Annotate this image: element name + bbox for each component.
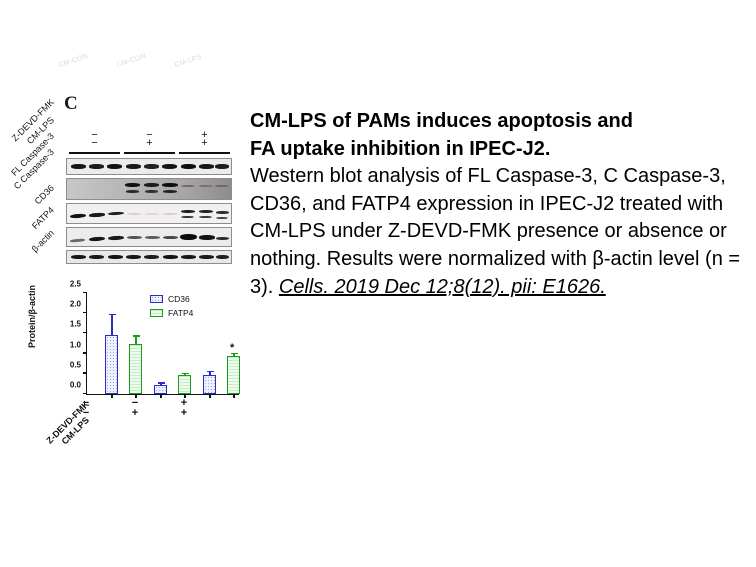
bar-cd36-group-1 [154, 385, 167, 394]
caption-title-line-2: FA uptake inhibition in IPEC-J2. [250, 138, 550, 160]
legend-swatch-fatp4-icon [150, 309, 163, 317]
errorbar-cd36-group-1 [160, 384, 161, 386]
errorbar-fatp4-group-1 [184, 374, 185, 375]
caption-citation-link[interactable]: Cells. 2019 Dec 12;8(12). pii: E1626. [279, 276, 606, 298]
legend-item-cd36: CD36 [150, 293, 230, 305]
errorcap-fatp4-group-1 [182, 373, 189, 374]
group-2-cm-lps-sign: + [177, 139, 232, 147]
y-tick-label-0: 0.0 [70, 381, 81, 390]
figure-panel: CM-CON CM-CON CM-LPS C Z-DEVD-FMK CM-LPS… [0, 0, 246, 567]
western-blot-stack [66, 158, 232, 267]
blot-panel-c-caspase-3 [66, 178, 232, 200]
treatment-sign-header: − − − + + + [67, 131, 232, 157]
caption-title-line-1: CM-LPS of PAMs induces apoptosis and [250, 110, 633, 132]
errorbar-fatp4-group-2 [233, 354, 234, 356]
y-tick-5 [83, 292, 87, 294]
bar-fatp4-group-0 [129, 344, 142, 395]
errorbar-fatp4-group-0 [135, 337, 136, 344]
x-axis-label-group: Z-DEVD-FMK CM-LPS − − − + + + [30, 395, 245, 450]
cropped-label-1: CM-CON [116, 53, 147, 69]
blot-panel-fatp4 [66, 227, 232, 247]
bar-chart: Protein/β-actin 0.0 0.5 1.0 1.5 2.0 2.5 [30, 285, 245, 450]
cropped-label-2: CM-LPS [174, 54, 203, 69]
y-tick-0 [83, 393, 87, 395]
x-group-0-cm-lps-sign: − [71, 408, 101, 418]
cropped-label-0: CM-CON [58, 53, 89, 69]
errorbar-cd36-group-0 [111, 315, 112, 335]
caption-body: Western blot analysis of FL Caspase-3, C… [250, 163, 746, 301]
legend-label-fatp4: FATP4 [168, 308, 193, 318]
y-tick-4 [83, 312, 87, 314]
caption-panel: CM-LPS of PAMs induces apoptosis and FA … [250, 108, 746, 301]
legend-swatch-cd36-icon [150, 295, 163, 303]
significance-star-fatp4-group-2: * [230, 345, 234, 351]
y-tick-label-1: 0.5 [70, 360, 81, 369]
group-0-cm-lps-sign: − [67, 139, 122, 147]
group-bar-2 [179, 152, 230, 154]
bar-fatp4-group-1 [178, 375, 191, 394]
bar-cd36-group-0 [105, 335, 118, 394]
group-bar-1 [124, 152, 175, 154]
bar-cd36-group-2 [203, 375, 216, 394]
blot-panel-fl-caspase-3 [66, 158, 232, 175]
errorcap-cd36-group-2 [207, 371, 214, 372]
x-group-1-cm-lps-sign: + [120, 408, 150, 418]
blot-panel-beta-actin [66, 250, 232, 264]
caption-title: CM-LPS of PAMs induces apoptosis and FA … [250, 108, 746, 163]
errorcap-cd36-group-1 [158, 382, 165, 383]
legend-item-fatp4: FATP4 [150, 307, 230, 319]
errorcap-fatp4-group-0 [133, 335, 140, 336]
y-tick-label-2: 1.0 [70, 340, 81, 349]
errorcap-cd36-group-0 [109, 314, 116, 315]
bar-fatp4-group-2 [227, 356, 240, 394]
blot-panel-cd36 [66, 203, 232, 224]
group-bar-0 [69, 152, 120, 154]
group-1-cm-lps-sign: + [122, 139, 177, 147]
errorbar-cd36-group-2 [209, 372, 210, 375]
chart-legend: CD36 FATP4 [150, 293, 230, 321]
y-tick-label-4: 2.0 [70, 300, 81, 309]
legend-label-cd36: CD36 [168, 294, 190, 304]
y-axis-title: Protein/β-actin [27, 285, 37, 348]
x-group-2-cm-lps-sign: + [169, 408, 199, 418]
y-tick-1 [83, 372, 87, 374]
y-tick-label-3: 1.5 [70, 320, 81, 329]
cropped-top-labels: CM-CON CM-CON CM-LPS [60, 62, 235, 80]
y-tick-3 [83, 332, 87, 334]
y-tick-2 [83, 352, 87, 354]
y-tick-label-5: 2.5 [70, 280, 81, 289]
